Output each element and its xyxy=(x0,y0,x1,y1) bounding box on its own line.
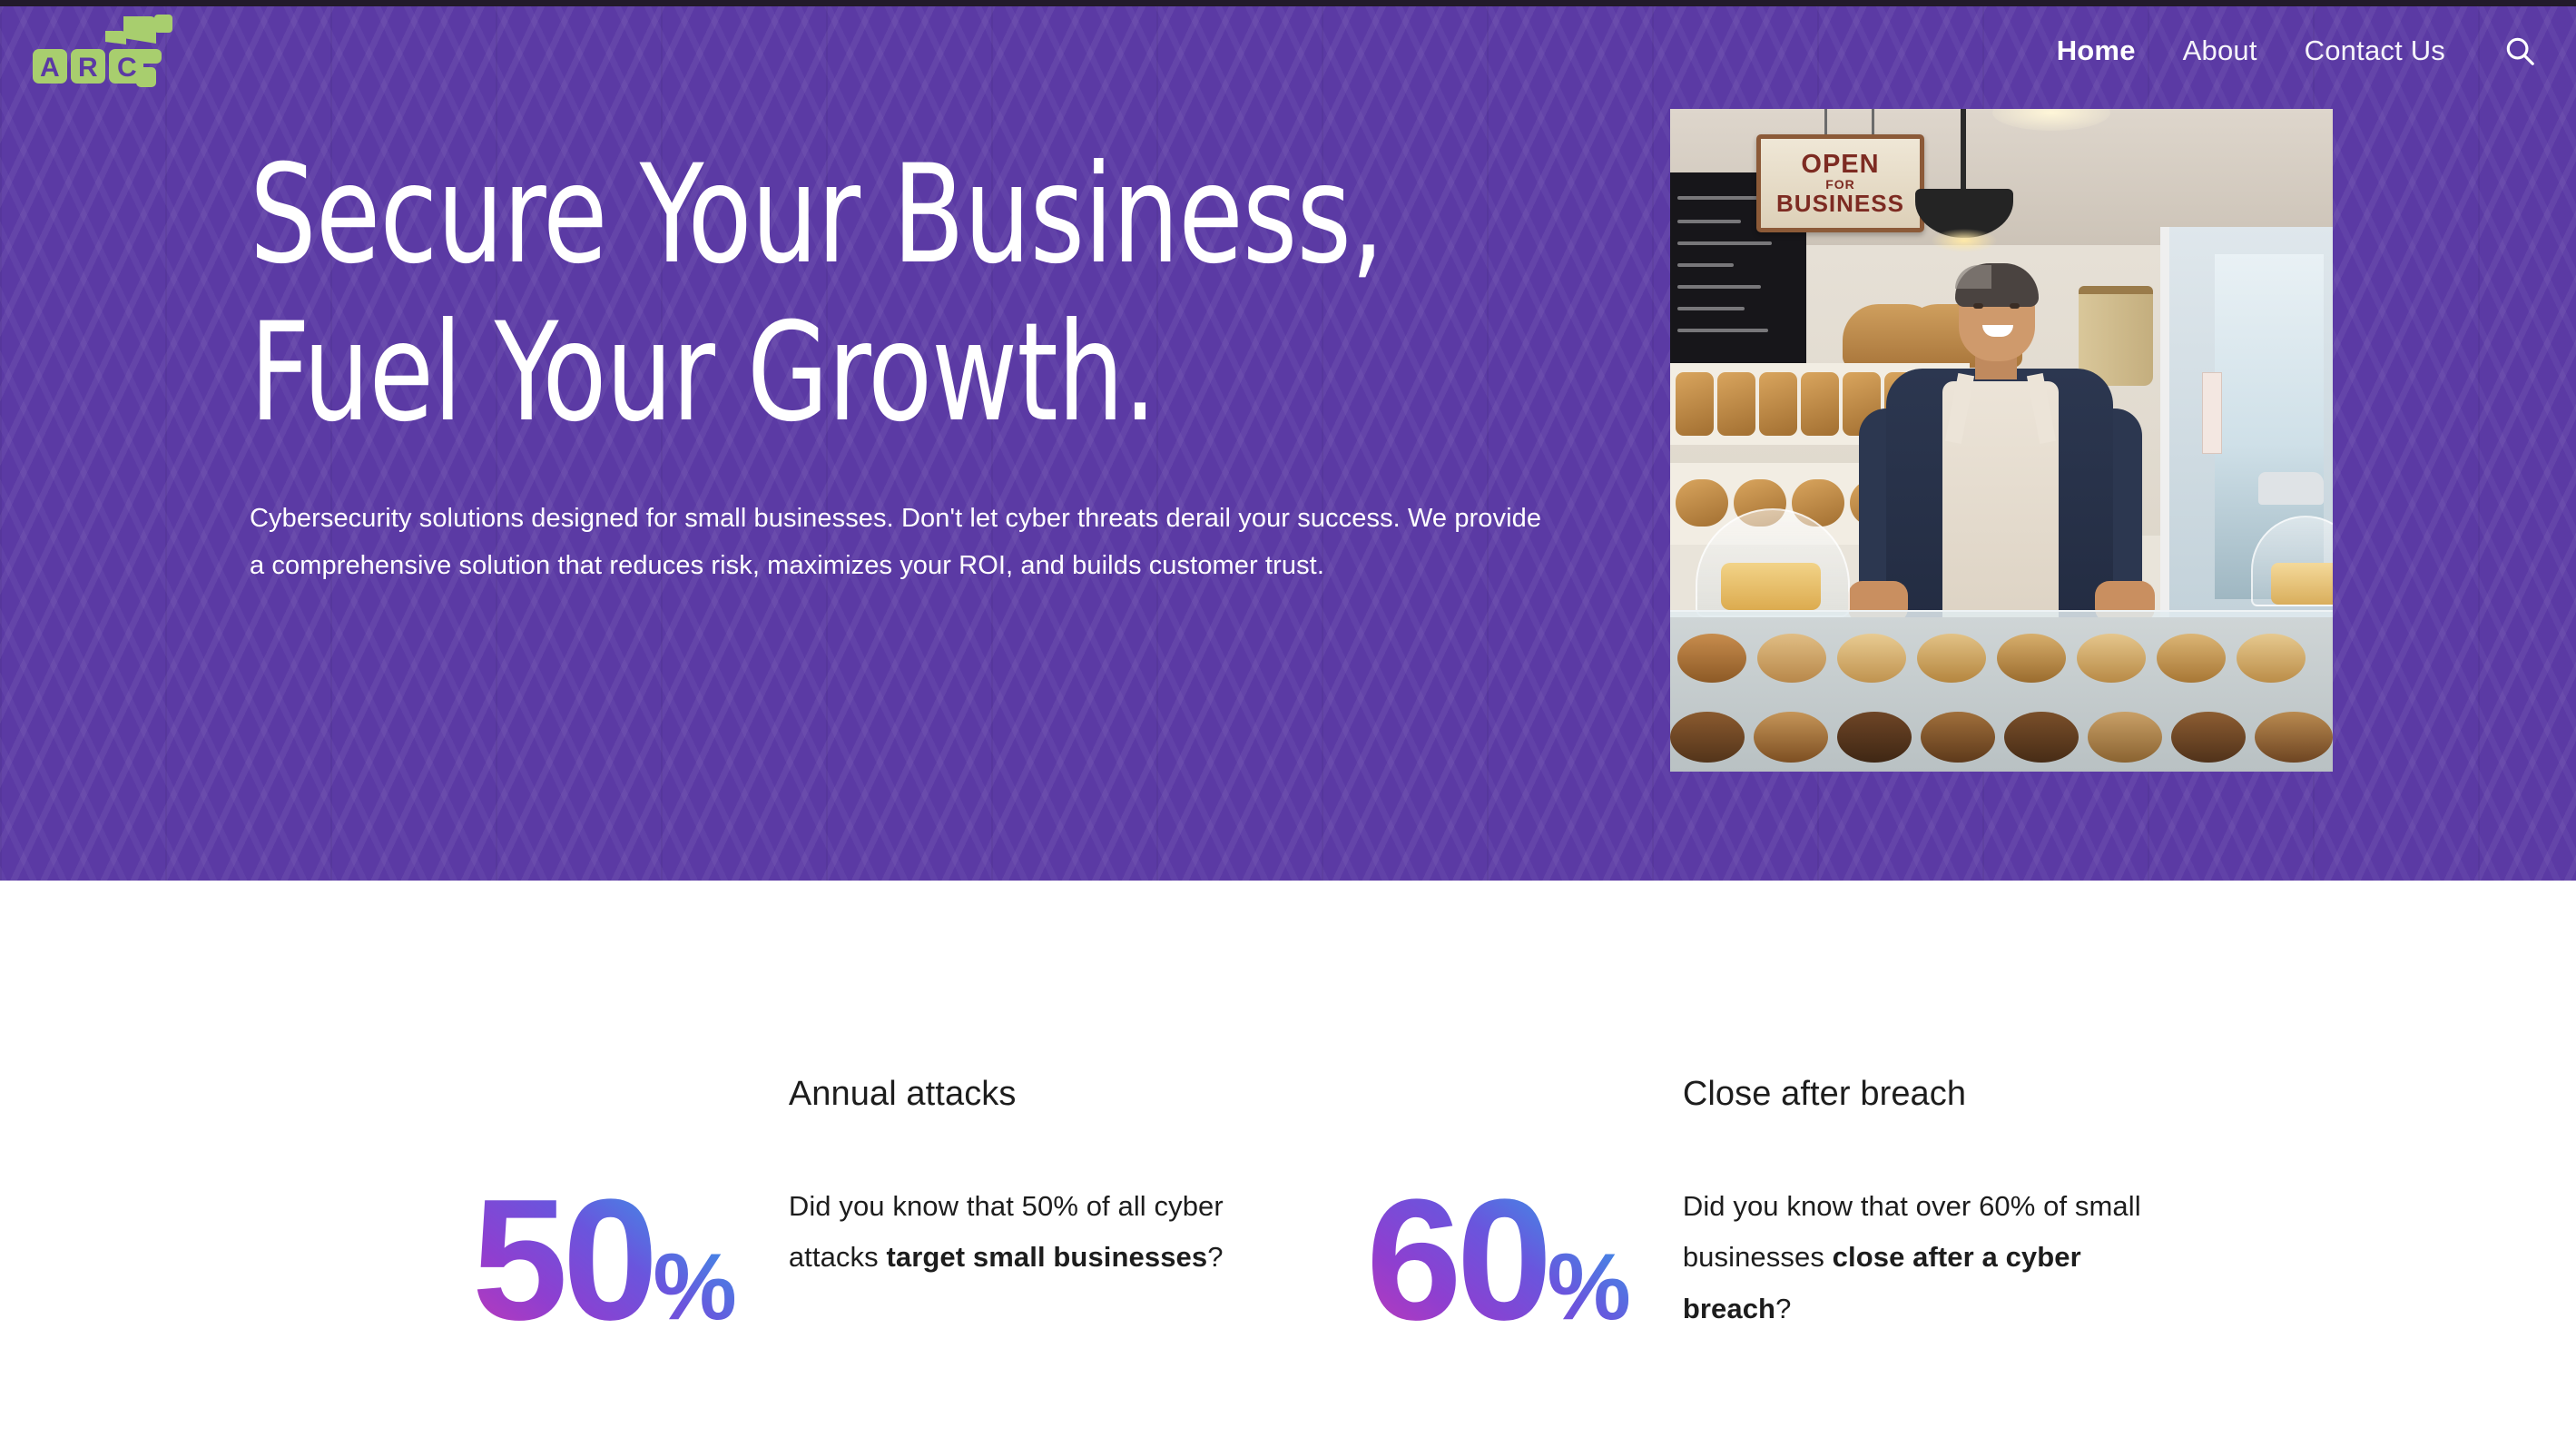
arc-logo-icon: A R C xyxy=(29,11,183,88)
hero-section: A R C Home About Contact Us Secure Your … xyxy=(0,0,2576,881)
stat-number-value: 60 xyxy=(1366,1164,1547,1356)
svg-text:C: C xyxy=(117,53,137,83)
stats-section: 50% Annual attacks Did you know that 50%… xyxy=(0,1071,2576,1398)
stat-card-annual-attacks: 50% Annual attacks Did you know that 50%… xyxy=(472,1071,1261,1343)
stat-desc-bold: target small businesses xyxy=(886,1241,1207,1273)
hero-copy: Secure Your Business, Fuel Your Growth. … xyxy=(250,136,1629,589)
stat-card-close-after-breach: 60% Close after breach Did you know that… xyxy=(1366,1071,2155,1343)
top-bar-strip xyxy=(0,0,2576,6)
stat-body: Annual attacks Did you know that 50% of … xyxy=(789,1071,1261,1284)
open-for-business-sign: OPEN FOR BUSINESS xyxy=(1756,134,1924,232)
nav-item-about[interactable]: About xyxy=(2183,34,2257,67)
hero-photo-bakery-owner: OPEN FOR BUSINESS xyxy=(1670,109,2333,772)
search-icon[interactable] xyxy=(2500,31,2540,71)
arc-logo[interactable]: A R C xyxy=(29,11,183,88)
sign-line-business: BUSINESS xyxy=(1776,192,1904,216)
stat-title: Close after breach xyxy=(1683,1075,2155,1114)
stat-number-value: 50 xyxy=(472,1164,653,1356)
stat-number-60: 60% xyxy=(1366,1178,1628,1343)
stat-description: Did you know that 50% of all cyber attac… xyxy=(789,1181,1261,1284)
svg-text:A: A xyxy=(40,53,60,83)
stat-number-50: 50% xyxy=(472,1178,734,1343)
hero-subtitle: Cybersecurity solutions designed for sma… xyxy=(250,496,1543,589)
stat-body: Close after breach Did you know that ove… xyxy=(1683,1071,2155,1334)
main-navigation: Home About Contact Us xyxy=(2057,31,2540,71)
stat-desc-tail: ? xyxy=(1207,1241,1223,1273)
pastry-display-counter xyxy=(1670,617,2333,772)
stat-percent-sign: % xyxy=(1547,1235,1627,1340)
stat-desc-tail: ? xyxy=(1775,1293,1791,1324)
nav-item-home[interactable]: Home xyxy=(2057,34,2136,67)
svg-text:R: R xyxy=(78,53,98,83)
stat-title: Annual attacks xyxy=(789,1075,1261,1114)
hero-title: Secure Your Business, Fuel Your Growth. xyxy=(250,136,1436,452)
sign-line-open: OPEN xyxy=(1801,151,1879,178)
stat-description: Did you know that over 60% of small busi… xyxy=(1683,1181,2155,1334)
stat-percent-sign: % xyxy=(653,1235,733,1340)
page-root: A R C Home About Contact Us Secure Your … xyxy=(0,0,2576,1447)
nav-item-contact-us[interactable]: Contact Us xyxy=(2305,34,2445,67)
